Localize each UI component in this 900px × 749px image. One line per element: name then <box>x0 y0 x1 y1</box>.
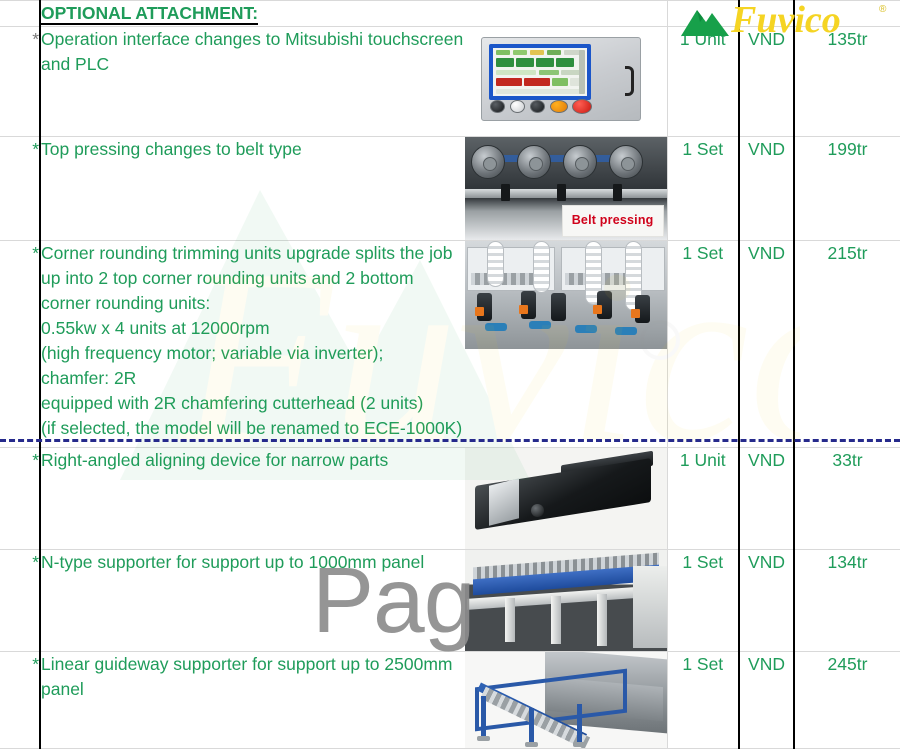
row-description: Right-angled aligning device for narrow … <box>40 448 465 550</box>
row-currency: VND <box>739 448 794 550</box>
row-quantity: 1 Unit <box>667 448 739 550</box>
section-header-label: OPTIONAL ATTACHMENT: <box>41 3 258 25</box>
table-row[interactable]: * Right-angled aligning device for narro… <box>0 448 900 550</box>
row-marker: * <box>0 550 40 652</box>
row-image-cell[interactable] <box>465 27 667 137</box>
mitsubishi-touchscreen-hmi-panel-image <box>481 37 641 121</box>
section-header-cell: OPTIONAL ATTACHMENT: <box>40 1 465 27</box>
corner-rounding-units-machine-image <box>465 241 667 349</box>
row-marker: * <box>0 137 40 241</box>
row-price: 199tr <box>794 137 900 241</box>
header-image-cell <box>465 1 667 27</box>
table-row[interactable]: * Top pressing changes to belt type <box>0 137 900 241</box>
row-currency: VND <box>739 27 794 137</box>
row-image-cell[interactable]: Belt pressing <box>465 137 667 241</box>
row-currency: VND <box>739 652 794 749</box>
row-marker: * <box>0 652 40 749</box>
row-image-cell[interactable] <box>465 652 667 749</box>
row-quantity: 1 Unit <box>667 27 739 137</box>
row-price: 134tr <box>794 550 900 652</box>
row-description: Linear guideway supporter for support up… <box>40 652 465 749</box>
right-angled-aligning-device-image <box>465 448 667 549</box>
row-image-cell[interactable] <box>465 550 667 652</box>
linear-guideway-supporter-image <box>465 652 667 748</box>
row-quantity: 1 Set <box>667 241 739 448</box>
row-image-cell[interactable] <box>465 448 667 550</box>
row-price: 215tr <box>794 241 900 448</box>
table-header-row: OPTIONAL ATTACHMENT: <box>0 1 900 27</box>
row-description: Top pressing changes to belt type <box>40 137 465 241</box>
page-break-line <box>0 439 900 442</box>
row-quantity: 1 Set <box>667 652 739 749</box>
row-quantity: 1 Set <box>667 550 739 652</box>
row-currency: VND <box>739 550 794 652</box>
row-image-cell[interactable] <box>465 241 667 448</box>
table-row[interactable]: * Operation interface changes to Mitsubi… <box>0 27 900 137</box>
row-price: 245tr <box>794 652 900 749</box>
row-currency: VND <box>739 241 794 448</box>
row-price: 135tr <box>794 27 900 137</box>
row-description: Corner rounding trimming units upgrade s… <box>40 241 465 448</box>
row-quantity: 1 Set <box>667 137 739 241</box>
page-watermark-text: Pag <box>312 554 474 647</box>
row-marker: * <box>0 448 40 550</box>
row-marker: * <box>0 27 40 137</box>
header-quantity-cell <box>667 1 739 27</box>
row-description: Operation interface changes to Mitsubish… <box>40 27 465 137</box>
row-currency: VND <box>739 137 794 241</box>
spreadsheet-sheet: OPTIONAL ATTACHMENT: * Operation interfa… <box>0 0 900 744</box>
table-row[interactable]: * Corner rounding trimming units upgrade… <box>0 241 900 448</box>
row-marker: * <box>0 241 40 448</box>
row-marker-cell <box>0 1 40 27</box>
header-price-cell <box>794 1 900 27</box>
row-price: 33tr <box>794 448 900 550</box>
belt-pressing-label: Belt pressing <box>563 206 663 236</box>
header-currency-cell <box>739 1 794 27</box>
n-type-supporter-image <box>465 550 667 651</box>
table-row[interactable]: * Linear guideway supporter for support … <box>0 652 900 749</box>
